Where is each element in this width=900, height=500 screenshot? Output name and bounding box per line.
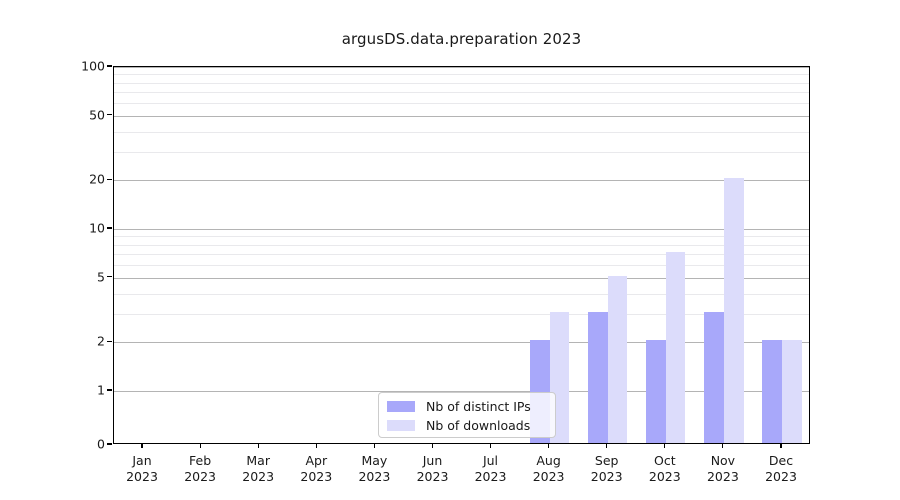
gridline (114, 92, 809, 93)
x-axis-tick-label: Nov2023 (707, 453, 739, 485)
bar (646, 340, 666, 443)
legend-swatch-icon (387, 401, 415, 412)
legend-entry-distinct-ips: Nb of distinct IPs (387, 398, 547, 415)
gridline (114, 254, 809, 255)
x-axis-tick-year: 2023 (765, 469, 797, 485)
y-axis-tick-mark (107, 114, 112, 115)
x-axis-tick-mark (780, 444, 781, 448)
x-axis-tick-month: Aug (533, 453, 565, 469)
chart-title: argusDS.data.preparation 2023 (113, 30, 810, 48)
x-axis-tick-year: 2023 (242, 469, 274, 485)
bar (704, 312, 724, 443)
gridline (114, 116, 809, 117)
bar (588, 312, 608, 443)
bar (608, 276, 628, 443)
x-axis-tick-mark (374, 444, 375, 448)
gridline (114, 132, 809, 133)
x-axis-tick-label: Sep2023 (591, 453, 623, 485)
chart-figure: argusDS.data.preparation 2023 0125102050… (0, 0, 900, 500)
x-axis-tick-mark (548, 444, 549, 448)
x-axis-tick-month: Mar (242, 453, 274, 469)
y-axis-tick-mark (107, 65, 112, 66)
x-axis-tick-label: Oct2023 (649, 453, 681, 485)
gridline (114, 74, 809, 75)
x-axis-tick-month: Apr (300, 453, 332, 469)
x-axis-tick-label: Aug2023 (533, 453, 565, 485)
legend-label: Nb of downloads (426, 418, 530, 433)
x-axis-tick-mark (606, 444, 607, 448)
y-axis-tick-mark (107, 227, 112, 228)
x-axis: Jan2023Feb2023Mar2023Apr2023May2023Jun20… (113, 448, 810, 494)
x-axis-tick-mark (141, 444, 142, 448)
x-axis-tick-label: Jan2023 (126, 453, 158, 485)
x-axis-tick-year: 2023 (591, 469, 623, 485)
bar (762, 340, 782, 443)
gridline (114, 278, 809, 279)
x-axis-tick-month: Oct (649, 453, 681, 469)
y-axis-tick-label: 2 (97, 334, 105, 349)
x-axis-tick-month: Jun (417, 453, 449, 469)
x-axis-tick-year: 2023 (707, 469, 739, 485)
y-axis-tick-mark (107, 443, 112, 444)
y-axis: 0125102050100 (60, 66, 105, 444)
y-axis-tick-label: 100 (81, 59, 105, 74)
bar (782, 340, 802, 443)
x-axis-tick-label: Apr2023 (300, 453, 332, 485)
y-axis-tick-label: 20 (89, 172, 105, 187)
x-axis-tick-month: Jul (475, 453, 507, 469)
y-axis-tick-label: 10 (89, 221, 105, 236)
x-axis-tick-mark (258, 444, 259, 448)
x-axis-tick-mark (432, 444, 433, 448)
x-axis-tick-label: Dec2023 (765, 453, 797, 485)
y-axis-tick-mark (107, 276, 112, 277)
x-axis-tick-mark (200, 444, 201, 448)
x-axis-tick-label: Jun2023 (417, 453, 449, 485)
y-axis-tick-label: 50 (89, 107, 105, 122)
y-axis-tick-label: 5 (97, 269, 105, 284)
x-axis-tick-mark (722, 444, 723, 448)
x-axis-tick-month: May (358, 453, 390, 469)
bar (666, 252, 686, 443)
gridline (114, 229, 809, 230)
x-axis-tick-year: 2023 (475, 469, 507, 485)
legend-entry-downloads: Nb of downloads (387, 417, 547, 434)
legend-swatch-icon (387, 420, 415, 431)
chart-legend: Nb of distinct IPs Nb of downloads (378, 392, 556, 438)
x-axis-tick-month: Nov (707, 453, 739, 469)
y-axis-tick-mark (107, 179, 112, 180)
bar (724, 178, 744, 443)
x-axis-tick-mark (316, 444, 317, 448)
x-axis-tick-month: Dec (765, 453, 797, 469)
y-axis-tick-label: 1 (97, 383, 105, 398)
y-axis-tick-mark (107, 389, 112, 390)
y-axis-tick-label: 0 (97, 437, 105, 452)
x-axis-tick-year: 2023 (649, 469, 681, 485)
gridline (114, 83, 809, 84)
gridline (114, 245, 809, 246)
x-axis-tick-month: Sep (591, 453, 623, 469)
x-axis-tick-year: 2023 (126, 469, 158, 485)
x-axis-tick-year: 2023 (184, 469, 216, 485)
gridline (114, 265, 809, 266)
y-axis-tick-mark (107, 341, 112, 342)
gridline (114, 236, 809, 237)
legend-label: Nb of distinct IPs (426, 399, 531, 414)
x-axis-tick-mark (664, 444, 665, 448)
x-axis-tick-year: 2023 (358, 469, 390, 485)
x-axis-tick-label: Feb2023 (184, 453, 216, 485)
x-axis-tick-mark (490, 444, 491, 448)
gridline (114, 67, 809, 68)
plot-area (113, 66, 810, 444)
x-axis-tick-month: Jan (126, 453, 158, 469)
x-axis-tick-label: Jul2023 (475, 453, 507, 485)
x-axis-tick-year: 2023 (417, 469, 449, 485)
gridline (114, 103, 809, 104)
x-axis-tick-year: 2023 (533, 469, 565, 485)
x-axis-tick-label: May2023 (358, 453, 390, 485)
x-axis-tick-month: Feb (184, 453, 216, 469)
x-axis-tick-year: 2023 (300, 469, 332, 485)
gridline (114, 152, 809, 153)
gridline (114, 180, 809, 181)
gridline (114, 294, 809, 295)
x-axis-tick-label: Mar2023 (242, 453, 274, 485)
